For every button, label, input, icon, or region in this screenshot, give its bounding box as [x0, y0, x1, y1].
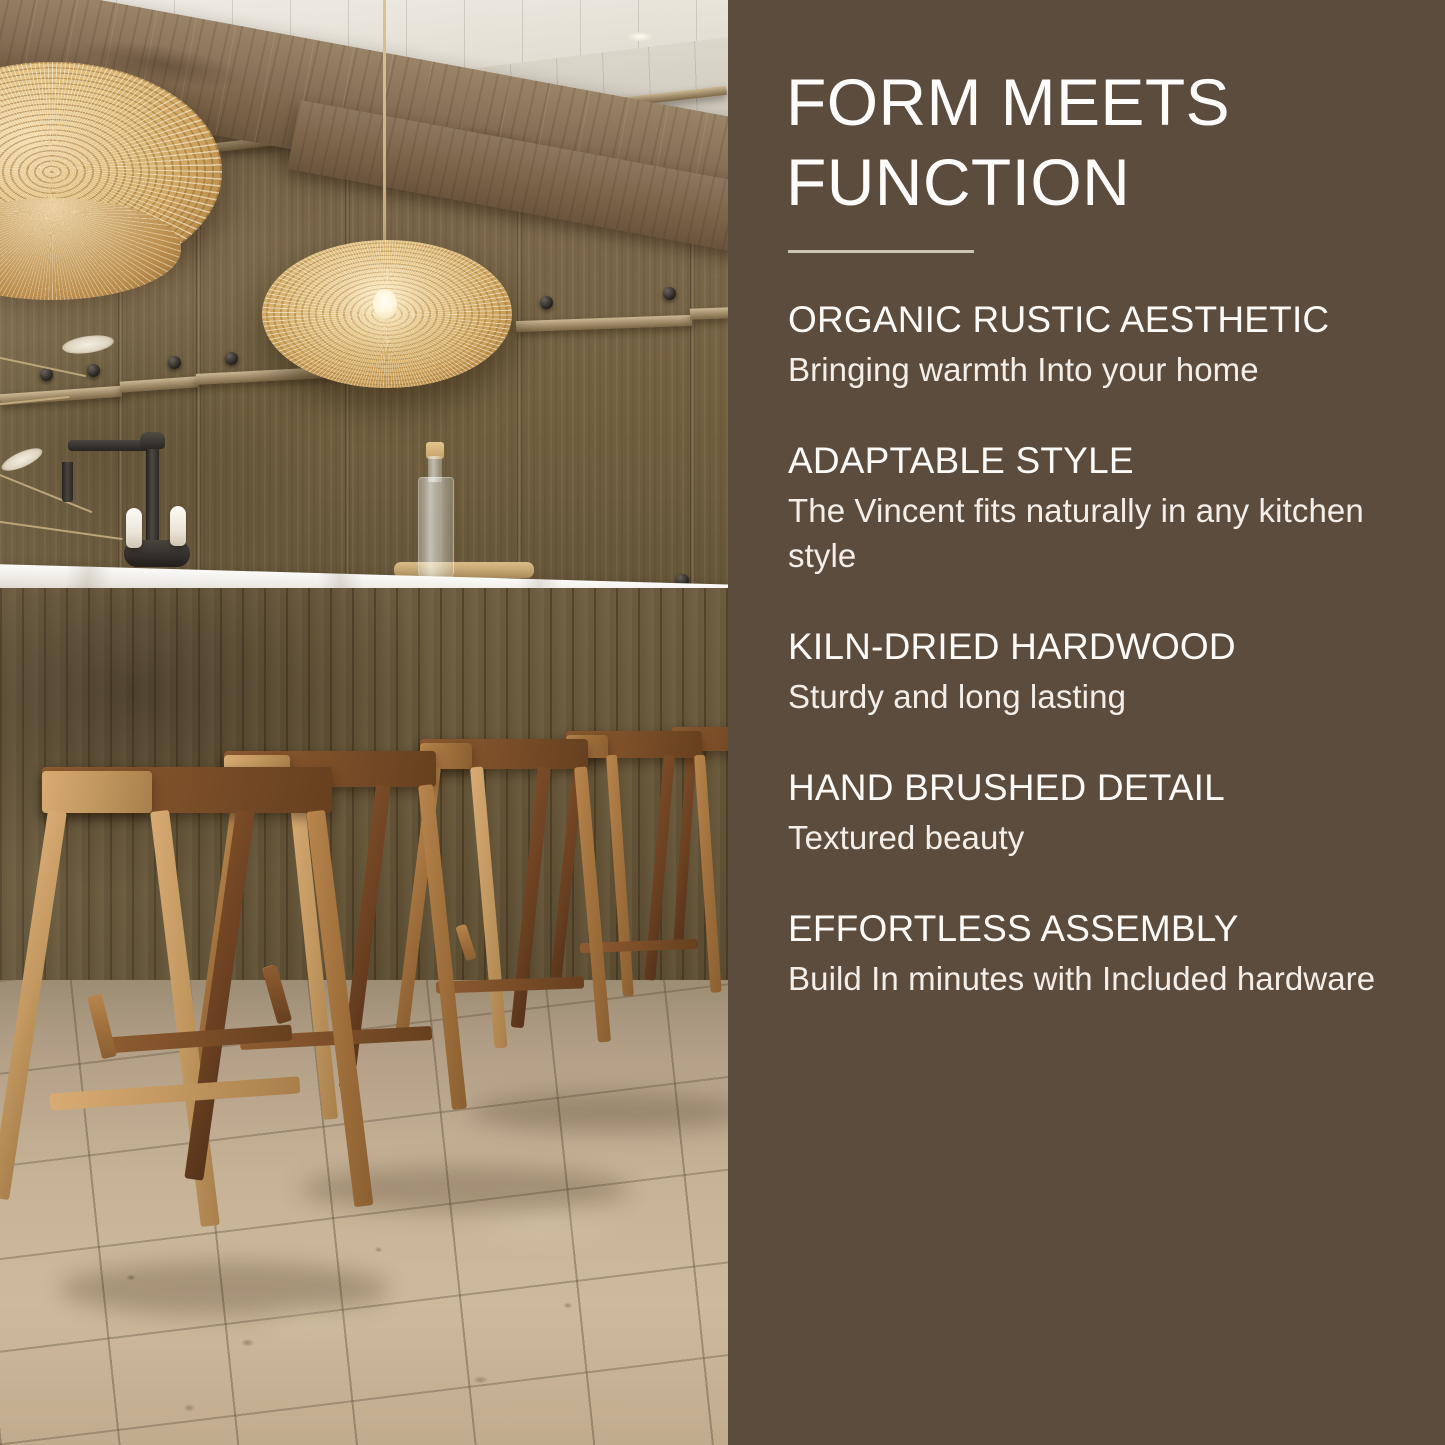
light-bulb	[373, 289, 397, 319]
feature-subtitle: Sturdy and long lasting	[788, 674, 1379, 719]
feature-title: KILN-DRIED HARDWOOD	[788, 624, 1379, 670]
title-line-2: FUNCTION	[786, 145, 1130, 219]
pendant-cord	[383, 0, 386, 252]
faucet-spout	[62, 462, 73, 502]
feature-subtitle: Bringing warmth Into your home	[788, 347, 1379, 392]
cabinet-knob	[540, 296, 553, 309]
title-divider	[788, 250, 974, 253]
recessed-downlight	[627, 32, 653, 41]
feature-subtitle: Build In minutes with Included hardware	[788, 956, 1379, 1001]
feature-title: EFFORTLESS ASSEMBLY	[788, 906, 1379, 952]
feature-item: HAND BRUSHED DETAIL Textured beauty	[786, 765, 1379, 860]
feature-title: ORGANIC RUSTIC AESTHETIC	[788, 297, 1379, 343]
title-line-1: FORM MEETS	[786, 65, 1230, 139]
cabinet-knob	[225, 352, 238, 365]
faucet-handle-left	[126, 508, 142, 548]
kitchen-product-photo	[0, 0, 728, 1445]
cabinet-knob	[87, 364, 100, 377]
page-title: FORM MEETS FUNCTION	[786, 62, 1379, 222]
glass-water-bottle	[418, 477, 454, 579]
feature-subtitle: The Vincent fits naturally in any kitche…	[788, 488, 1379, 578]
feature-item: ADAPTABLE STYLE The Vincent fits natural…	[786, 438, 1379, 578]
faucet-handle-right	[170, 506, 186, 546]
feature-item: ORGANIC RUSTIC AESTHETIC Bringing warmth…	[786, 297, 1379, 392]
cabinet-knob	[168, 356, 181, 369]
feature-item: KILN-DRIED HARDWOOD Sturdy and long last…	[786, 624, 1379, 719]
feature-title: HAND BRUSHED DETAIL	[788, 765, 1379, 811]
cabinet-knob	[663, 287, 676, 300]
cabinet-rail	[690, 307, 728, 319]
feature-list: ORGANIC RUSTIC AESTHETIC Bringing warmth…	[786, 297, 1379, 1001]
stool-seat-end	[42, 771, 152, 813]
product-feature-poster: FORM MEETS FUNCTION ORGANIC RUSTIC AESTH…	[0, 0, 1445, 1445]
stool-shadow	[60, 1262, 390, 1316]
cabinet-knob	[40, 368, 53, 381]
feature-text-panel: FORM MEETS FUNCTION ORGANIC RUSTIC AESTH…	[728, 0, 1445, 1445]
faucet-cap	[140, 432, 165, 449]
faucet-column	[146, 447, 159, 547]
feature-title: ADAPTABLE STYLE	[788, 438, 1379, 484]
feature-item: EFFORTLESS ASSEMBLY Build In minutes wit…	[786, 906, 1379, 1001]
feature-subtitle: Textured beauty	[788, 815, 1379, 860]
